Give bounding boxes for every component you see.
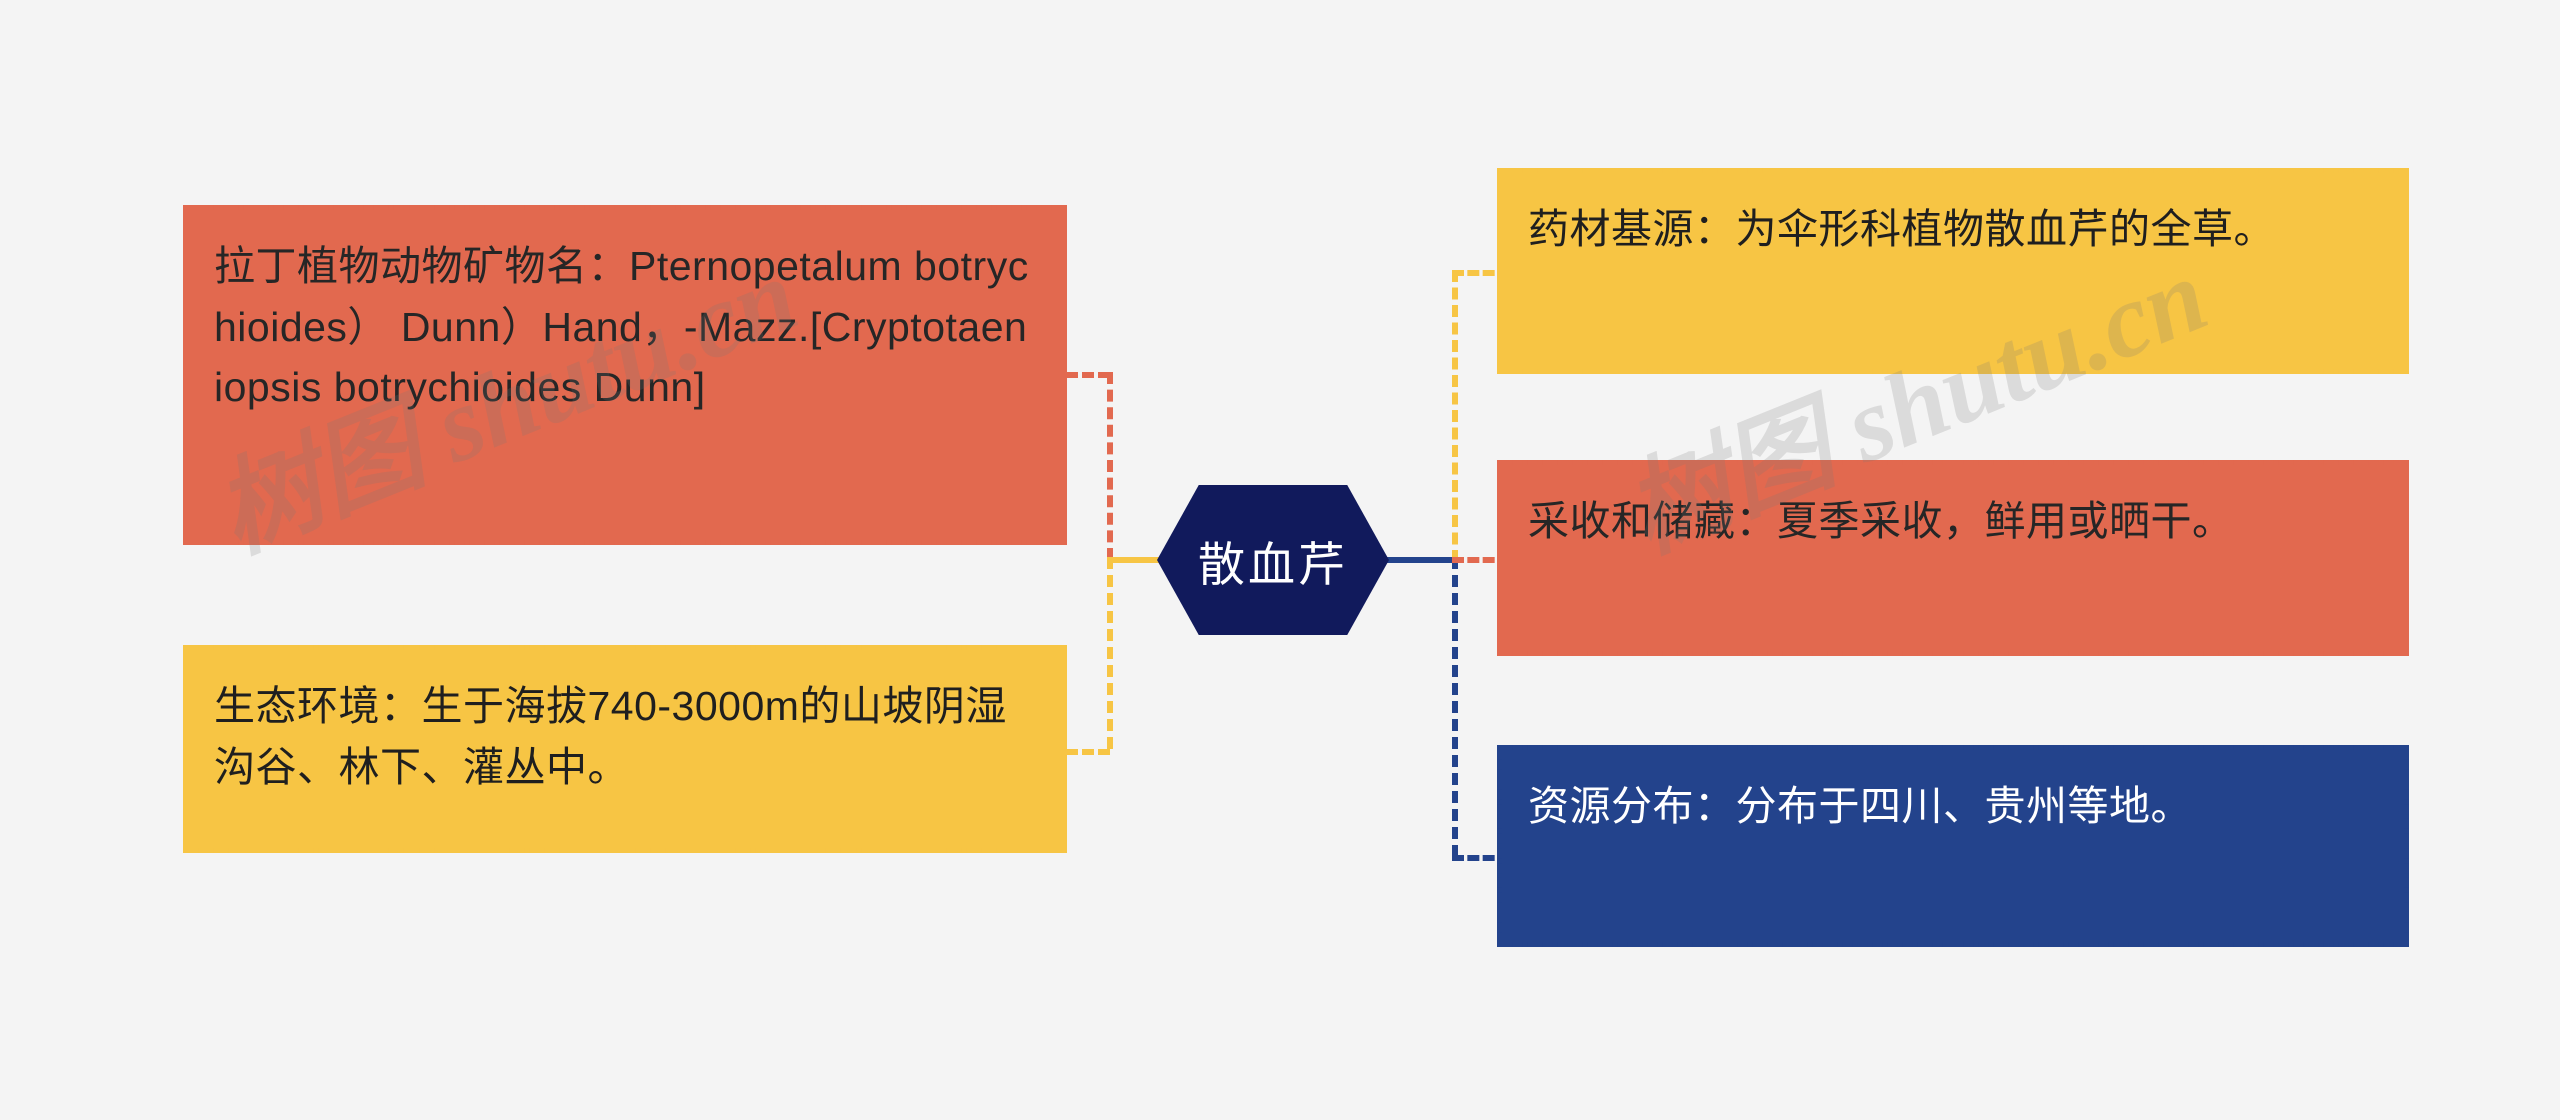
- node-ecology-text: 生态环境：生于海拔740-3000m的山坡阴湿沟谷、林下、灌丛中。: [214, 676, 1036, 797]
- central-node-sanxueqin[interactable]: 散血芹: [1157, 485, 1389, 635]
- connector-center-right-stub: [1386, 557, 1458, 563]
- connector-left-vertical-yellow: [1107, 557, 1113, 749]
- central-node-label: 散血芹: [1198, 526, 1348, 595]
- node-medicinal-source-text: 药材基源：为伞形科植物散血芹的全草。: [1528, 199, 2275, 260]
- node-harvest-storage-text: 采收和储藏：夏季采收，鲜用或晒干。: [1528, 491, 2234, 552]
- node-resource-distribution-text: 资源分布：分布于四川、贵州等地。: [1528, 776, 2192, 837]
- mindmap-canvas: 树图 shutu.cn 树图 shutu.cn 拉丁植物动物矿物名：Pterno…: [0, 0, 2560, 1120]
- node-latin-name-text: 拉丁植物动物矿物名：Pternopetalum botrychioides） D…: [214, 236, 1036, 418]
- connector-right-vertical-blue: [1452, 557, 1458, 857]
- connector-right-vertical-yellow: [1452, 270, 1458, 562]
- node-latin-name[interactable]: 拉丁植物动物矿物名：Pternopetalum botrychioides） D…: [183, 205, 1067, 545]
- node-harvest-storage[interactable]: 采收和储藏：夏季采收，鲜用或晒干。: [1497, 460, 2409, 656]
- node-resource-distribution[interactable]: 资源分布：分布于四川、贵州等地。: [1497, 745, 2409, 947]
- node-ecology[interactable]: 生态环境：生于海拔740-3000m的山坡阴湿沟谷、林下、灌丛中。: [183, 645, 1067, 853]
- node-medicinal-source[interactable]: 药材基源：为伞形科植物散血芹的全草。: [1497, 168, 2409, 374]
- connector-center-left-stub: [1107, 557, 1163, 563]
- connector-left-vertical-red: [1107, 372, 1113, 560]
